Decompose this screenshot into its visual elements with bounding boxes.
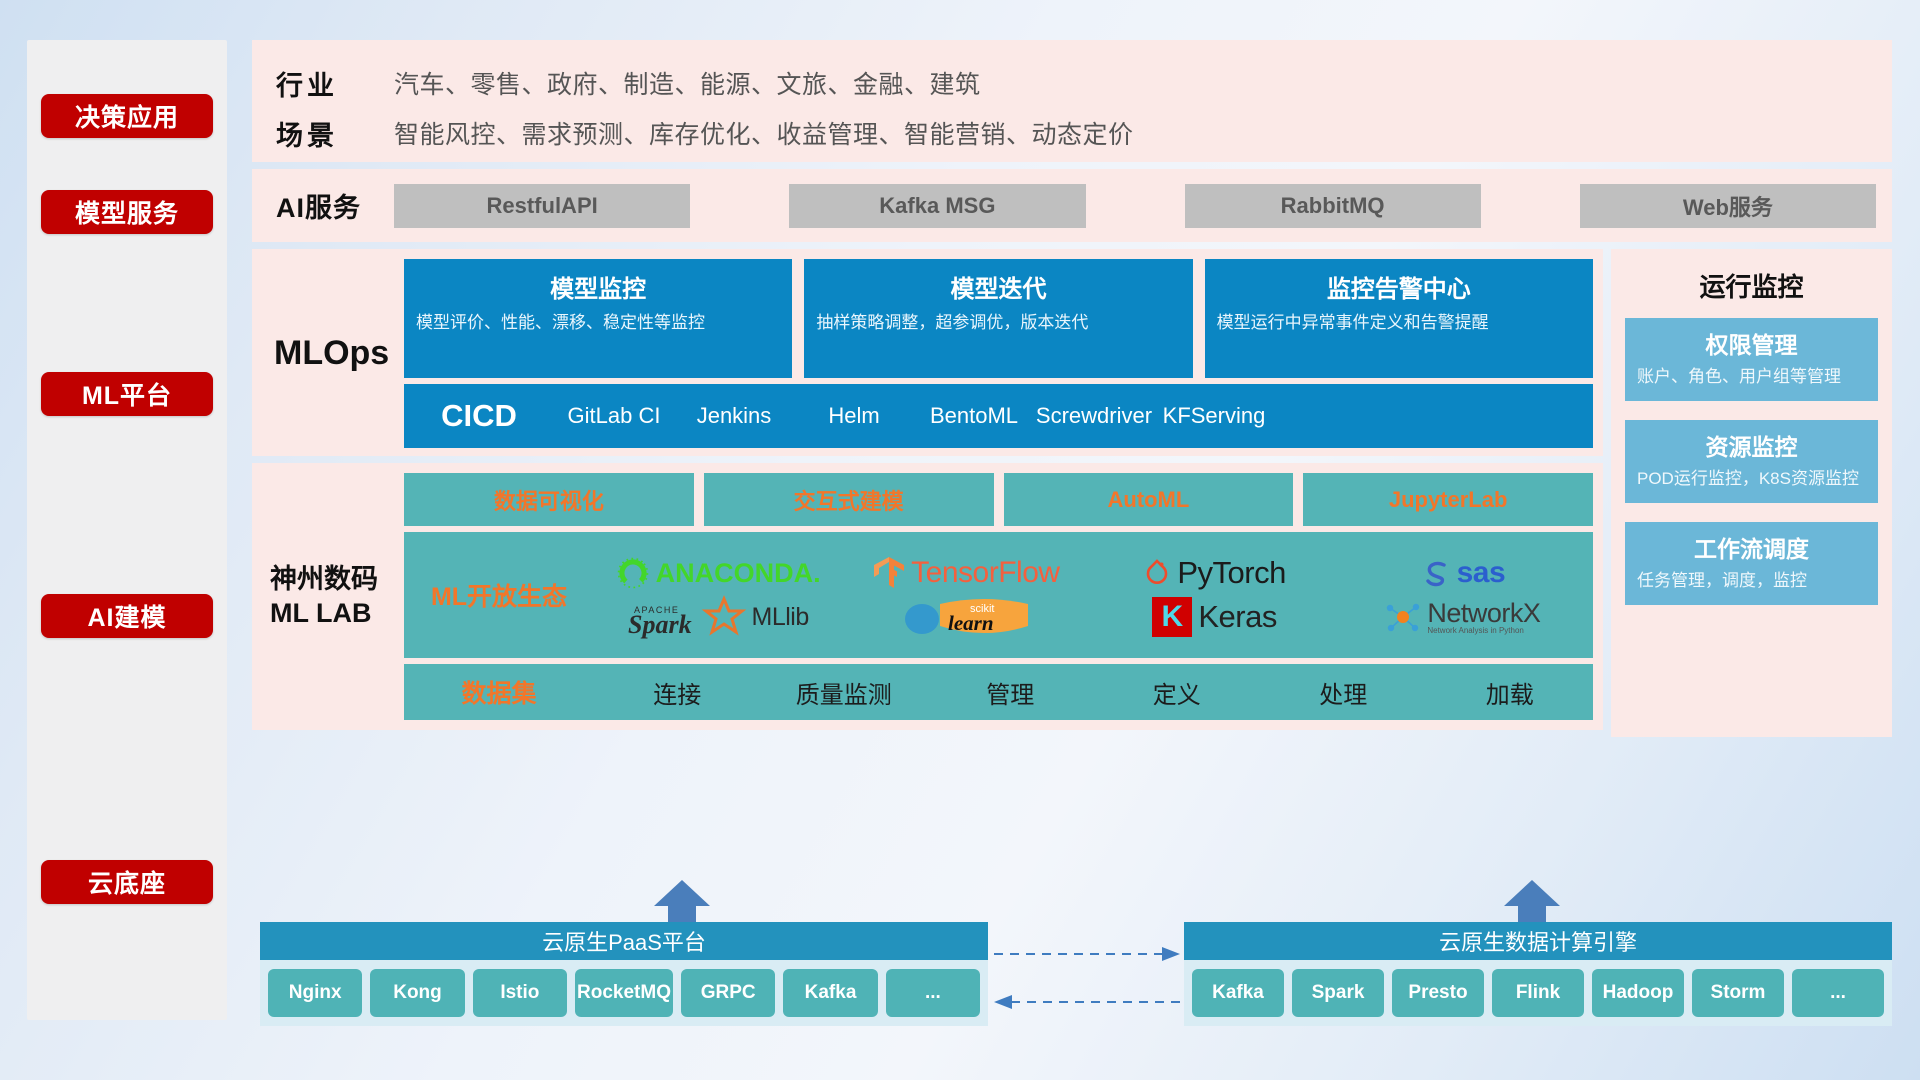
ml-ecosystem-row: ML开放生态 ANACONDA.: [404, 532, 1593, 658]
tech-chip-kong[interactable]: Kong: [370, 969, 464, 1017]
card-desc: POD运行监控，K8S资源监控: [1637, 468, 1866, 491]
spark-icon: APACHE Spark: [628, 595, 746, 639]
cloud-base-section: 云原生PaaS平台 Nginx Kong Istio RocketMQ GRPC…: [252, 880, 1892, 1050]
cicd-row: CICD GitLab CI Jenkins Helm BentoML Scre…: [404, 384, 1593, 448]
ml-lab-label-line1: 神州数码: [270, 563, 404, 597]
card-desc: 模型评价、性能、漂移、稳定性等监控: [416, 312, 780, 335]
keras-icon: K: [1152, 597, 1192, 637]
tech-chip-more-left[interactable]: ...: [886, 969, 980, 1017]
svg-text:learn: learn: [948, 611, 994, 635]
dataset-item-quality-monitor[interactable]: 质量监测: [761, 675, 928, 710]
tensorflow-icon: [873, 555, 905, 591]
rail-label: 云底座: [88, 864, 166, 900]
dataset-item-process[interactable]: 处理: [1260, 675, 1427, 710]
rail-label: ML平台: [82, 376, 172, 412]
card-title: 资源监控: [1637, 428, 1866, 462]
tech-chip-grpc[interactable]: GRPC: [681, 969, 775, 1017]
card-title: 模型监控: [416, 269, 780, 304]
tech-chip-kafka[interactable]: Kafka: [783, 969, 877, 1017]
ai-service-band: AI服务 RestfulAPI Kafka MSG RabbitMQ Web服务: [252, 169, 1892, 242]
dataset-label: 数据集: [404, 674, 594, 710]
industry-text: 汽车、零售、政府、制造、能源、文旅、金融、建筑: [394, 65, 981, 101]
mlops-card-model-monitoring[interactable]: 模型监控 模型评价、性能、漂移、稳定性等监控: [404, 259, 792, 378]
paas-platform-title: 云原生PaaS平台: [260, 922, 988, 960]
tech-chip-istio[interactable]: Istio: [473, 969, 567, 1017]
card-desc: 模型运行中异常事件定义和告警提醒: [1217, 312, 1581, 335]
networkx-tagline: Network Analysis in Python: [1427, 627, 1540, 635]
rail-item-model-service[interactable]: 模型服务: [41, 190, 213, 234]
tech-chip-presto[interactable]: Presto: [1392, 969, 1484, 1017]
tech-chip-hadoop[interactable]: Hadoop: [1592, 969, 1684, 1017]
ml-lab-body: 数据可视化 交互式建模 AutoML JupyterLab ML开放生态: [404, 473, 1603, 720]
cicd-item-list: GitLab CI Jenkins Helm BentoML Screwdriv…: [554, 403, 1593, 428]
ml-ecosystem-title: ML开放生态: [404, 577, 594, 613]
scikit-learn-logo: scikit learn: [900, 596, 1032, 638]
tensorflow-label: TensorFlow: [911, 556, 1059, 590]
anaconda-label: ANACONDA.: [656, 558, 821, 589]
cicd-item-kfserving[interactable]: KFServing: [1154, 403, 1274, 428]
card-desc: 任务管理，调度，监控: [1637, 570, 1866, 593]
tech-chip-flink[interactable]: Flink: [1492, 969, 1584, 1017]
bidirectional-dashed-connector-icon: [992, 942, 1182, 1022]
rail-item-ml-platform[interactable]: ML平台: [41, 372, 213, 416]
tech-chip-storm[interactable]: Storm: [1692, 969, 1784, 1017]
runtime-monitor-panel: 运行监控 权限管理 账户、角色、用户组等管理 资源监控 POD运行监控，K8S资…: [1611, 249, 1892, 737]
industry-label: 行业: [276, 64, 394, 103]
rail-label: 决策应用: [75, 98, 179, 134]
sas-label: sas: [1457, 556, 1506, 590]
dataset-row: 数据集 连接 质量监测 管理 定义 处理 加载: [404, 664, 1593, 720]
mllib-label: MLlib: [752, 603, 809, 632]
rail-label: AI建模: [87, 598, 166, 634]
rail-item-decision-app[interactable]: 决策应用: [41, 94, 213, 138]
ml-lab-label: 神州数码 ML LAB: [252, 473, 404, 720]
dataset-item-connect[interactable]: 连接: [594, 675, 761, 710]
monitor-card-workflow[interactable]: 工作流调度 任务管理，调度，监控: [1625, 522, 1878, 605]
tech-chip-nginx[interactable]: Nginx: [268, 969, 362, 1017]
ml-lab-tab-list: 数据可视化 交互式建模 AutoML JupyterLab: [404, 473, 1593, 526]
pytorch-icon: [1143, 557, 1171, 589]
tab-interactive-modeling[interactable]: 交互式建模: [704, 473, 994, 526]
networkx-label: NetworkX: [1427, 600, 1540, 627]
architecture-diagram: 决策应用 模型服务 ML平台 AI建模 云底座 行业 汽车、零售、政府、制造、能…: [0, 0, 1920, 1080]
cicd-item-gitlab-ci[interactable]: GitLab CI: [554, 403, 674, 428]
mlops-card-alert-center[interactable]: 监控告警中心 模型运行中异常事件定义和告警提醒: [1205, 259, 1593, 378]
cicd-item-bentoml[interactable]: BentoML: [914, 403, 1034, 428]
scikit-learn-icon: scikit learn: [936, 596, 1032, 638]
service-chip-kafka-msg[interactable]: Kafka MSG: [789, 184, 1085, 228]
tab-automl[interactable]: AutoML: [1004, 473, 1294, 526]
tech-chip-rocketmq[interactable]: RocketMQ: [575, 969, 673, 1017]
layer-rail: 决策应用 模型服务 ML平台 AI建模 云底座: [27, 40, 227, 1020]
main-column: 行业 汽车、零售、政府、制造、能源、文旅、金融、建筑 场景 智能风控、需求预测、…: [252, 40, 1892, 737]
scenario-label: 场景: [276, 114, 394, 153]
card-title: 模型迭代: [816, 269, 1180, 304]
mlops-card-model-iteration[interactable]: 模型迭代 抽样策略调整，超参调优，版本迭代: [804, 259, 1192, 378]
platform-section: MLOps 模型监控 模型评价、性能、漂移、稳定性等监控 模型迭代 抽样策略调整…: [252, 249, 1892, 737]
paas-tech-list: Nginx Kong Istio RocketMQ GRPC Kafka ...: [260, 960, 988, 1026]
rail-item-ai-modeling[interactable]: AI建模: [41, 594, 213, 638]
networkx-logo: NetworkX Network Analysis in Python: [1385, 600, 1540, 635]
dataset-item-manage[interactable]: 管理: [927, 675, 1094, 710]
mlops-card-list: 模型监控 模型评价、性能、漂移、稳定性等监控 模型迭代 抽样策略调整，超参调优，…: [404, 259, 1593, 378]
ml-lab-band: 神州数码 ML LAB 数据可视化 交互式建模 AutoML JupyterLa…: [252, 463, 1603, 730]
svg-text:Spark: Spark: [628, 610, 692, 639]
pytorch-label: PyTorch: [1177, 555, 1285, 591]
cicd-item-helm[interactable]: Helm: [794, 403, 914, 428]
tab-data-visualization[interactable]: 数据可视化: [404, 473, 694, 526]
tab-jupyterlab[interactable]: JupyterLab: [1303, 473, 1593, 526]
sas-icon: [1421, 558, 1451, 588]
dataset-item-load[interactable]: 加载: [1427, 675, 1594, 710]
pytorch-logo: PyTorch: [1143, 555, 1285, 591]
paas-platform-stack: 云原生PaaS平台 Nginx Kong Istio RocketMQ GRPC…: [260, 922, 988, 1026]
tech-chip-kafka-right[interactable]: Kafka: [1192, 969, 1284, 1017]
dataset-item-define[interactable]: 定义: [1094, 675, 1261, 710]
rail-item-cloud-base[interactable]: 云底座: [41, 860, 213, 904]
monitor-card-permission[interactable]: 权限管理 账户、角色、用户组等管理: [1625, 318, 1878, 401]
card-desc: 抽样策略调整，超参调优，版本迭代: [816, 312, 1180, 335]
dataset-item-list: 连接 质量监测 管理 定义 处理 加载: [594, 675, 1593, 710]
ml-lab-label-line2: ML LAB: [270, 597, 404, 631]
service-chip-rabbitmq[interactable]: RabbitMQ: [1185, 184, 1481, 228]
upward-arrow-left-icon: [652, 880, 712, 926]
ai-service-chip-list: RestfulAPI Kafka MSG RabbitMQ Web服务: [394, 184, 1892, 228]
mlops-band: MLOps 模型监控 模型评价、性能、漂移、稳定性等监控 模型迭代 抽样策略调整…: [252, 249, 1603, 456]
scenario-row: 场景 智能风控、需求预测、库存优化、收益管理、智能营销、动态定价: [276, 108, 1892, 158]
mlops-body: 模型监控 模型评价、性能、漂移、稳定性等监控 模型迭代 抽样策略调整，超参调优，…: [404, 259, 1603, 448]
card-title: 监控告警中心: [1217, 269, 1581, 304]
cicd-label: CICD: [404, 398, 554, 434]
networkx-icon: [1385, 600, 1421, 634]
ai-service-label: AI服务: [276, 186, 394, 225]
ml-ecosystem-logo-grid: ANACONDA. TensorFlow: [594, 551, 1587, 639]
card-title: 权限管理: [1637, 326, 1866, 360]
data-compute-tech-list: Kafka Spark Presto Flink Hadoop Storm ..…: [1184, 960, 1892, 1026]
industry-row: 行业 汽车、零售、政府、制造、能源、文旅、金融、建筑: [276, 58, 1892, 108]
anaconda-logo: ANACONDA.: [616, 556, 821, 590]
data-compute-engine-stack: 云原生数据计算引擎 Kafka Spark Presto Flink Hadoo…: [1184, 922, 1892, 1026]
cicd-item-screwdriver[interactable]: Screwdriver: [1034, 403, 1154, 428]
card-desc: 账户、角色、用户组等管理: [1637, 366, 1866, 389]
data-compute-engine-title: 云原生数据计算引擎: [1184, 922, 1892, 960]
spark-mllib-logo: APACHE Spark MLlib: [628, 595, 809, 639]
monitor-card-resource[interactable]: 资源监控 POD运行监控，K8S资源监控: [1625, 420, 1878, 503]
mlops-label: MLOps: [252, 259, 404, 448]
keras-label: Keras: [1198, 599, 1276, 635]
tech-chip-more-right[interactable]: ...: [1792, 969, 1884, 1017]
service-chip-web-service[interactable]: Web服务: [1580, 184, 1876, 228]
tech-chip-spark[interactable]: Spark: [1292, 969, 1384, 1017]
runtime-monitor-title: 运行监控: [1625, 267, 1878, 304]
card-title: 工作流调度: [1637, 530, 1866, 564]
tensorflow-logo: TensorFlow: [873, 555, 1059, 591]
service-chip-restfulapi[interactable]: RestfulAPI: [394, 184, 690, 228]
rail-label: 模型服务: [75, 194, 179, 230]
anaconda-icon: [616, 556, 650, 590]
application-band: 行业 汽车、零售、政府、制造、能源、文旅、金融、建筑 场景 智能风控、需求预测、…: [252, 40, 1892, 162]
cicd-item-jenkins[interactable]: Jenkins: [674, 403, 794, 428]
sas-logo: sas: [1421, 556, 1506, 590]
keras-logo: K Keras: [1152, 597, 1276, 637]
scenario-text: 智能风控、需求预测、库存优化、收益管理、智能营销、动态定价: [394, 115, 1134, 151]
upward-arrow-right-icon: [1502, 880, 1562, 926]
platform-left: MLOps 模型监控 模型评价、性能、漂移、稳定性等监控 模型迭代 抽样策略调整…: [252, 249, 1603, 737]
